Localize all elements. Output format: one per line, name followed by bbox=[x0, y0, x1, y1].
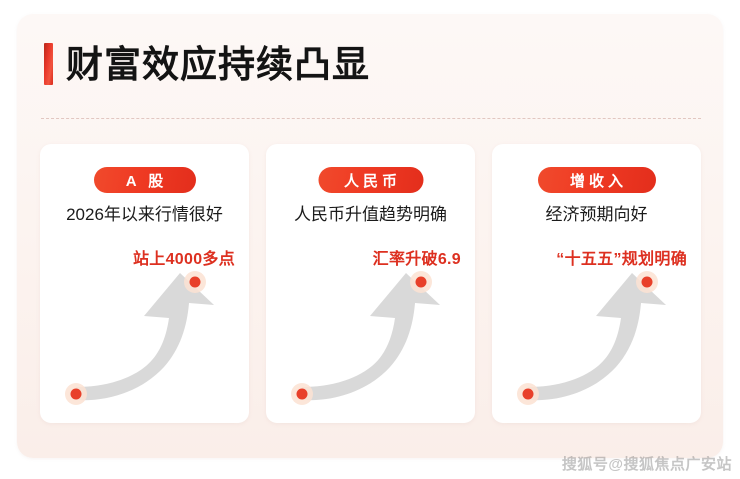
card-highlight: “十五五”规划明确 bbox=[556, 245, 687, 269]
title-accent-bar bbox=[44, 43, 53, 85]
card-income[interactable]: 增收入 经济预期向好 “十五五”规划明确 bbox=[492, 144, 701, 423]
card-title: 经济预期向好 bbox=[492, 205, 701, 225]
card-a-shares[interactable]: A 股 2026年以来行情很好 站上4000多点 bbox=[40, 144, 249, 423]
upward-trend-arrow-icon bbox=[282, 269, 460, 417]
page-title: 财富效应持续凸显 bbox=[66, 46, 370, 83]
upward-trend-arrow-icon bbox=[56, 269, 234, 417]
upward-trend-arrow-icon bbox=[508, 269, 686, 417]
card-highlight: 汇率升破6.9 bbox=[373, 245, 461, 269]
header-divider bbox=[41, 118, 701, 119]
status-badge: 增收入 bbox=[538, 167, 656, 193]
card-list: A 股 2026年以来行情很好 站上4000多点 人民币 人民币升值趋势明确 汇… bbox=[40, 144, 702, 423]
header: 财富效应持续凸显 bbox=[44, 40, 370, 88]
infographic-panel: 财富效应持续凸显 A 股 2026年以来行情很好 站上4000多点 人民币 人民… bbox=[17, 14, 723, 458]
status-badge: 人民币 bbox=[318, 167, 423, 193]
card-highlight: 站上4000多点 bbox=[133, 245, 235, 269]
status-badge: A 股 bbox=[94, 167, 196, 193]
watermark: 搜狐号@搜狐焦点广安站 bbox=[562, 453, 732, 474]
card-title: 人民币升值趋势明确 bbox=[266, 205, 475, 225]
card-title: 2026年以来行情很好 bbox=[40, 205, 249, 225]
card-rmb[interactable]: 人民币 人民币升值趋势明确 汇率升破6.9 bbox=[266, 144, 475, 423]
